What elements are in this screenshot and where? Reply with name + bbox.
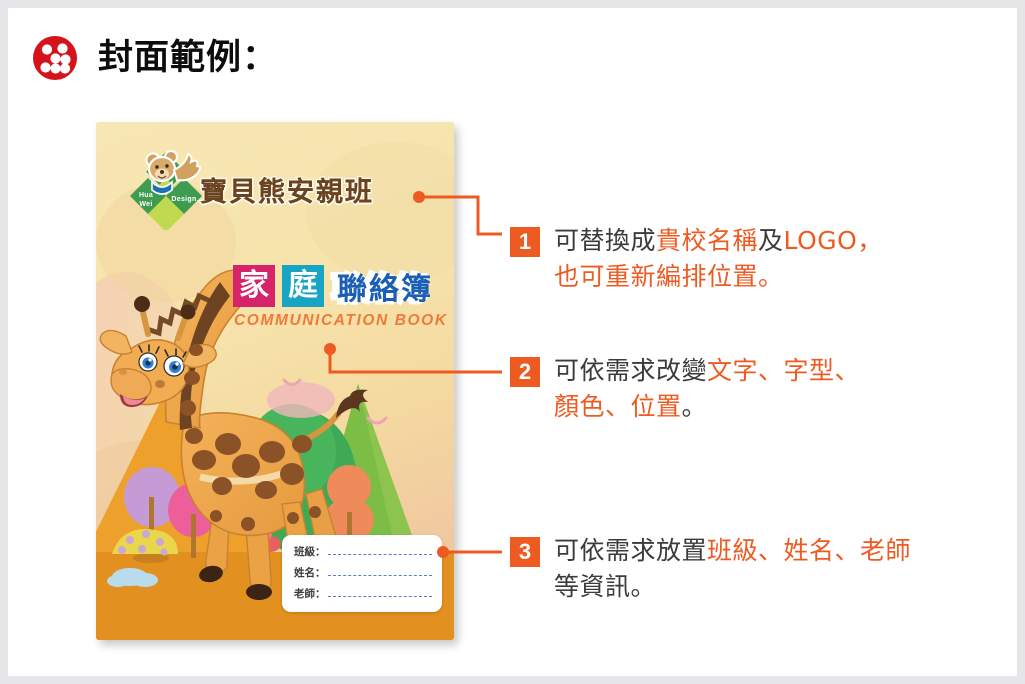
annotation-item-2: 2 可依需求改變文字、字型、 顏色、位置。: [510, 357, 860, 424]
anno1-seg3: LOGO，: [784, 226, 883, 255]
annotation-item-1: 1 可替換成貴校名稱及LOGO， 也可重新編排位置。: [510, 227, 883, 294]
anno3-seg2: 等資訊。: [554, 572, 656, 601]
giraffe-cover-illustration: [96, 122, 454, 640]
anno3-seg0: 可依需求放置: [554, 536, 707, 565]
anno2-seg0: 可依需求改變: [554, 356, 707, 385]
annotation-text-2: 可依需求改變文字、字型、 顏色、位置。: [554, 353, 860, 424]
annotation-text-1: 可替換成貴校名稱及LOGO， 也可重新編排位置。: [554, 223, 883, 294]
anno1-seg2: 及: [758, 226, 784, 255]
anno1-seg0: 可替換成: [554, 226, 656, 255]
anno1-seg1: 貴校名稱: [656, 226, 758, 255]
anno2-seg1: 文字、字型、: [707, 356, 860, 385]
anno2-seg2: 顏色、位置: [554, 392, 682, 421]
page-title: 封面範例：: [98, 41, 278, 76]
anno2-seg3: 。: [682, 392, 708, 421]
annotation-text-3: 可依需求放置班級、姓名、老師 等資訊。: [554, 533, 911, 604]
anno1-seg4: 也可重新編排位置。: [554, 262, 784, 291]
annotation-number-3: 3: [510, 537, 540, 567]
annotation-number-1: 1: [510, 227, 540, 257]
book-cover-preview: Hua Wei Design 寶貝熊安親班 寶貝熊安親班 聯絡簿 家 庭 聯絡簿…: [96, 122, 454, 640]
annotation-item-3: 3 可依需求放置班級、姓名、老師 等資訊。: [510, 537, 911, 604]
annotation-number-2: 2: [510, 357, 540, 387]
anno3-seg1: 班級、姓名、老師: [707, 536, 911, 565]
page-canvas: 封面範例：: [8, 8, 1017, 676]
red-circle-dots-logo-icon: [30, 33, 80, 83]
page-header: 封面範例：: [30, 33, 278, 83]
